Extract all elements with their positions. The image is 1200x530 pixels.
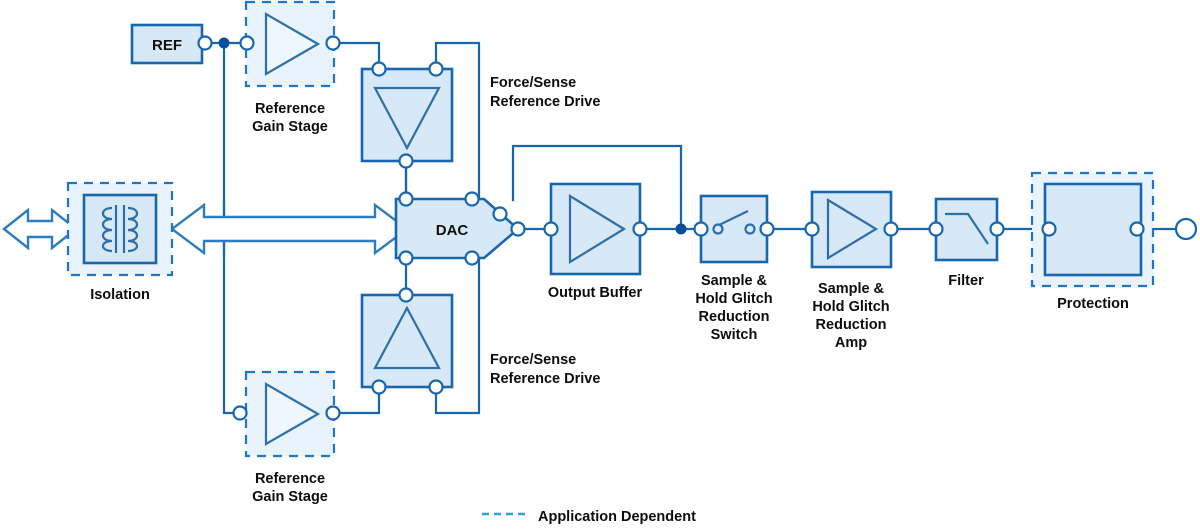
refgain-top-label-line2: Gain Stage [252, 119, 328, 135]
pin-shswitch-in [695, 223, 708, 236]
pin-filter-out [991, 223, 1004, 236]
block-filter[interactable]: Filter [936, 199, 997, 289]
pin-refgainbottom-out [327, 407, 340, 420]
block-diagram: REF Isolation Reference Gain Stage Refer… [0, 0, 1200, 530]
sh-amp-label-line1: Sample & [818, 281, 885, 297]
pin-dac-bottom-right [466, 252, 479, 265]
refgain-top-label-line1: Reference [255, 101, 325, 117]
pin-dac-top-right [466, 193, 479, 206]
block-reference-gain-stage-bottom[interactable]: Reference Gain Stage [246, 372, 334, 505]
pin-dac-out [512, 223, 525, 236]
pin-output-terminal [1176, 219, 1196, 239]
refgain-bottom-label-line1: Reference [255, 471, 325, 487]
pin-shswitch-out [761, 223, 774, 236]
pin-dac-top-mid [400, 193, 413, 206]
pin-shamp-out [885, 223, 898, 236]
sh-switch-label-line2: Hold Glitch [695, 291, 772, 307]
legend: Application Dependent [482, 509, 696, 525]
pin-refgainbottom-in [234, 407, 247, 420]
forcesense-top-label-line2: Reference Drive [490, 94, 600, 110]
block-reference-gain-stage-top[interactable]: Reference Gain Stage [246, 2, 334, 135]
refgain-bottom-label-line2: Gain Stage [252, 489, 328, 505]
sh-amp-label-line4: Amp [835, 335, 867, 351]
isolation-label: Isolation [90, 287, 150, 303]
pin-dac-diagonal-feedback [494, 208, 507, 221]
junction-feedback-node [676, 224, 686, 234]
block-sample-hold-glitch-reduction-amp[interactable]: Sample & Hold Glitch Reduction Amp [812, 192, 891, 351]
pin-forcesensetop-out [400, 155, 413, 168]
output-buffer-label: Output Buffer [548, 285, 643, 301]
block-sample-hold-glitch-reduction-switch[interactable]: Sample & Hold Glitch Reduction Switch [695, 196, 772, 343]
legend-label: Application Dependent [538, 509, 696, 525]
wire-refgaintop-to-forcesense-top [334, 43, 379, 69]
forcesense-bottom-label-line2: Reference Drive [490, 371, 600, 387]
forcesense-top-label-line1: Force/Sense [490, 75, 576, 91]
pin-forcesensebottom-out-right [430, 381, 443, 394]
pin-ref-out [199, 37, 212, 50]
sh-amp-body[interactable] [812, 192, 891, 267]
pin-refgaintop-in [241, 37, 254, 50]
output-buffer-body[interactable] [551, 184, 640, 274]
sh-switch-label-line1: Sample & [701, 273, 768, 289]
pin-forcesensebottom-out-left [373, 381, 386, 394]
block-protection[interactable]: Protection [1032, 173, 1153, 312]
protection-label: Protection [1057, 296, 1129, 312]
bidirectional-bus-arrow-icon [172, 205, 407, 253]
filter-label: Filter [948, 273, 984, 289]
pin-forcesensetop-in-left [373, 63, 386, 76]
block-force-sense-reference-drive-top[interactable]: Force/Sense Reference Drive [362, 69, 600, 161]
pin-dac-bottom-mid [400, 252, 413, 265]
pin-filter-in [930, 223, 943, 236]
pin-forcesensetop-in-right [430, 63, 443, 76]
ref-label: REF [152, 37, 182, 54]
pin-protection-out [1131, 223, 1144, 236]
junction-ref-node [219, 38, 229, 48]
bus-arrow-group [4, 205, 407, 253]
wire-refgainbottom-to-forcesense-bottom [334, 387, 379, 413]
pin-protection-in [1043, 223, 1056, 236]
external-io-arrow-icon [4, 210, 76, 248]
protection-body[interactable] [1045, 184, 1141, 275]
pin-outputbuffer-out [634, 223, 647, 236]
sh-amp-label-line3: Reduction [816, 317, 887, 333]
block-force-sense-reference-drive-bottom[interactable]: Force/Sense Reference Drive [362, 295, 600, 387]
pin-forcesensebottom-in [400, 289, 413, 302]
sh-amp-label-line2: Hold Glitch [812, 299, 889, 315]
block-isolation[interactable]: Isolation [68, 183, 172, 303]
pin-outputbuffer-in [545, 223, 558, 236]
sh-switch-label-line4: Switch [711, 327, 758, 343]
isolation-block-body[interactable] [84, 195, 156, 263]
sh-switch-body[interactable] [701, 196, 767, 262]
sh-switch-label-line3: Reduction [699, 309, 770, 325]
dac-label: DAC [436, 222, 469, 239]
block-output-buffer[interactable]: Output Buffer [548, 184, 643, 301]
pin-shamp-in [806, 223, 819, 236]
filter-body[interactable] [936, 199, 997, 260]
forcesense-bottom-label-line1: Force/Sense [490, 352, 576, 368]
pin-refgaintop-out [327, 37, 340, 50]
block-ref[interactable]: REF [132, 25, 202, 63]
